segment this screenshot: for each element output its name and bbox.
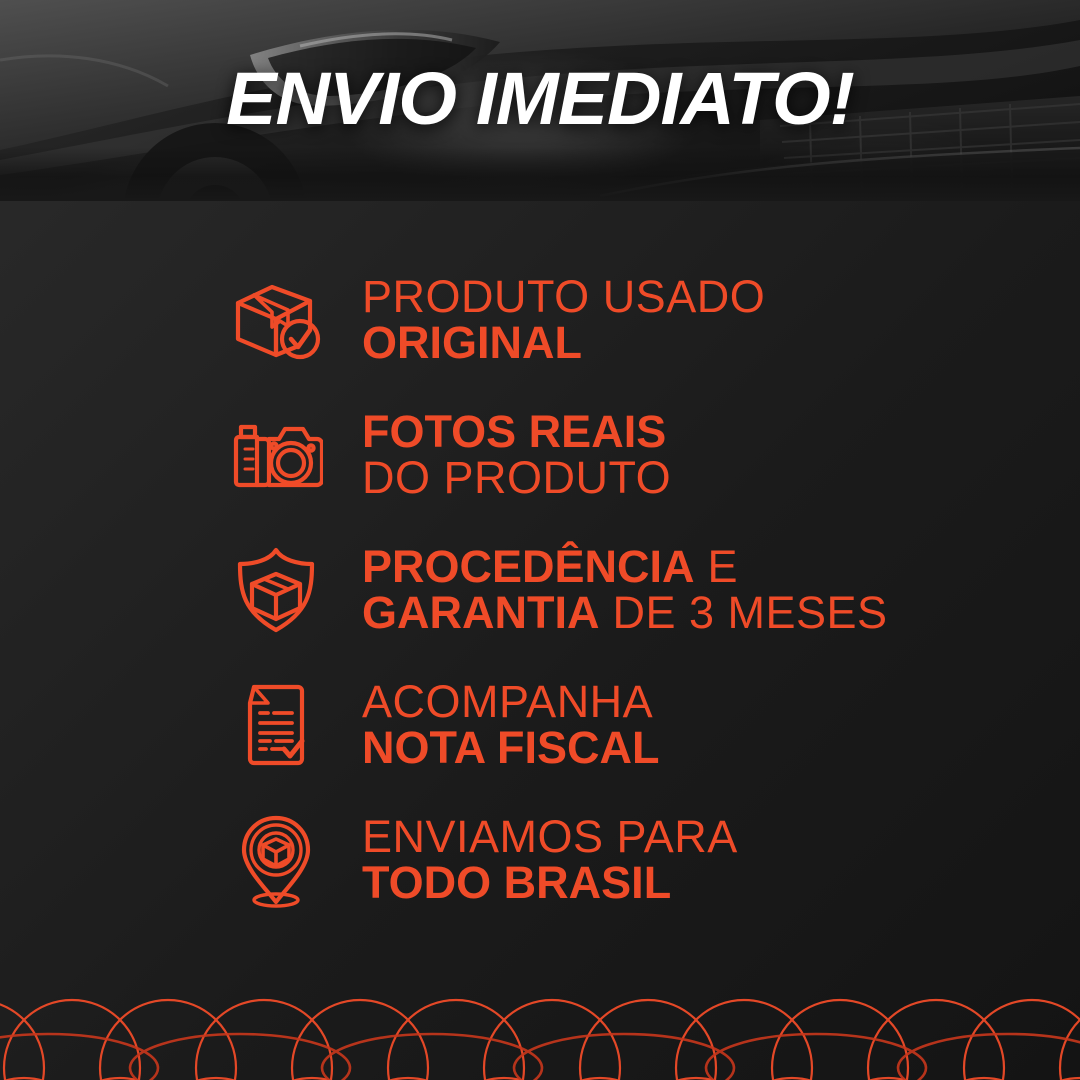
feature-text: ACOMPANHA NOTA FISCAL [362, 679, 659, 771]
feature-line-2: DO PRODUTO [362, 455, 671, 501]
feature-row: ENVIAMOS PARA TODO BRASIL [222, 792, 1080, 927]
feature-line-2-thin: DE 3 MESES [599, 587, 887, 638]
hero-header: ENVIO IMEDIATO! [0, 0, 1080, 201]
feature-text: PROCEDÊNCIA E GARANTIA DE 3 MESES [362, 544, 888, 636]
feature-list: PRODUTO USADO ORIGINAL [222, 252, 1080, 927]
feature-line-2: TODO BRASIL [362, 860, 738, 906]
shield-box-icon [222, 544, 330, 636]
feature-line-2: NOTA FISCAL [362, 725, 659, 771]
hero-bottom-fade [0, 147, 1080, 201]
promo-banner: ENVIO IMEDIATO! PRODUTO USADO ORIGINAL [0, 0, 1080, 1080]
feature-line-1: FOTOS REAIS [362, 409, 671, 455]
feature-line-2: GARANTIA DE 3 MESES [362, 590, 888, 636]
feature-line-1: ENVIAMOS PARA [362, 814, 738, 860]
feature-line-1: ACOMPANHA [362, 679, 659, 725]
page-title: ENVIO IMEDIATO! [0, 56, 1080, 141]
feature-line-1-thin: E [695, 541, 739, 592]
feature-line-2-bold: GARANTIA [362, 587, 599, 638]
box-check-icon [222, 277, 330, 363]
feature-text: PRODUTO USADO ORIGINAL [362, 274, 765, 366]
feature-line-1-bold: PROCEDÊNCIA [362, 541, 695, 592]
feature-text: FOTOS REAIS DO PRODUTO [362, 409, 671, 501]
feature-line-1: PRODUTO USADO [362, 274, 765, 320]
camera-icon [222, 415, 330, 495]
footer-decorative-pattern [0, 950, 1080, 1080]
feature-row: FOTOS REAIS DO PRODUTO [222, 387, 1080, 522]
location-pin-box-icon [222, 812, 330, 908]
feature-row: PRODUTO USADO ORIGINAL [222, 252, 1080, 387]
feature-row: ACOMPANHA NOTA FISCAL [222, 657, 1080, 792]
invoice-check-icon [222, 679, 330, 771]
feature-line-2: ORIGINAL [362, 320, 765, 366]
feature-row: PROCEDÊNCIA E GARANTIA DE 3 MESES [222, 522, 1080, 657]
feature-text: ENVIAMOS PARA TODO BRASIL [362, 814, 738, 906]
feature-line-1: PROCEDÊNCIA E [362, 544, 888, 590]
